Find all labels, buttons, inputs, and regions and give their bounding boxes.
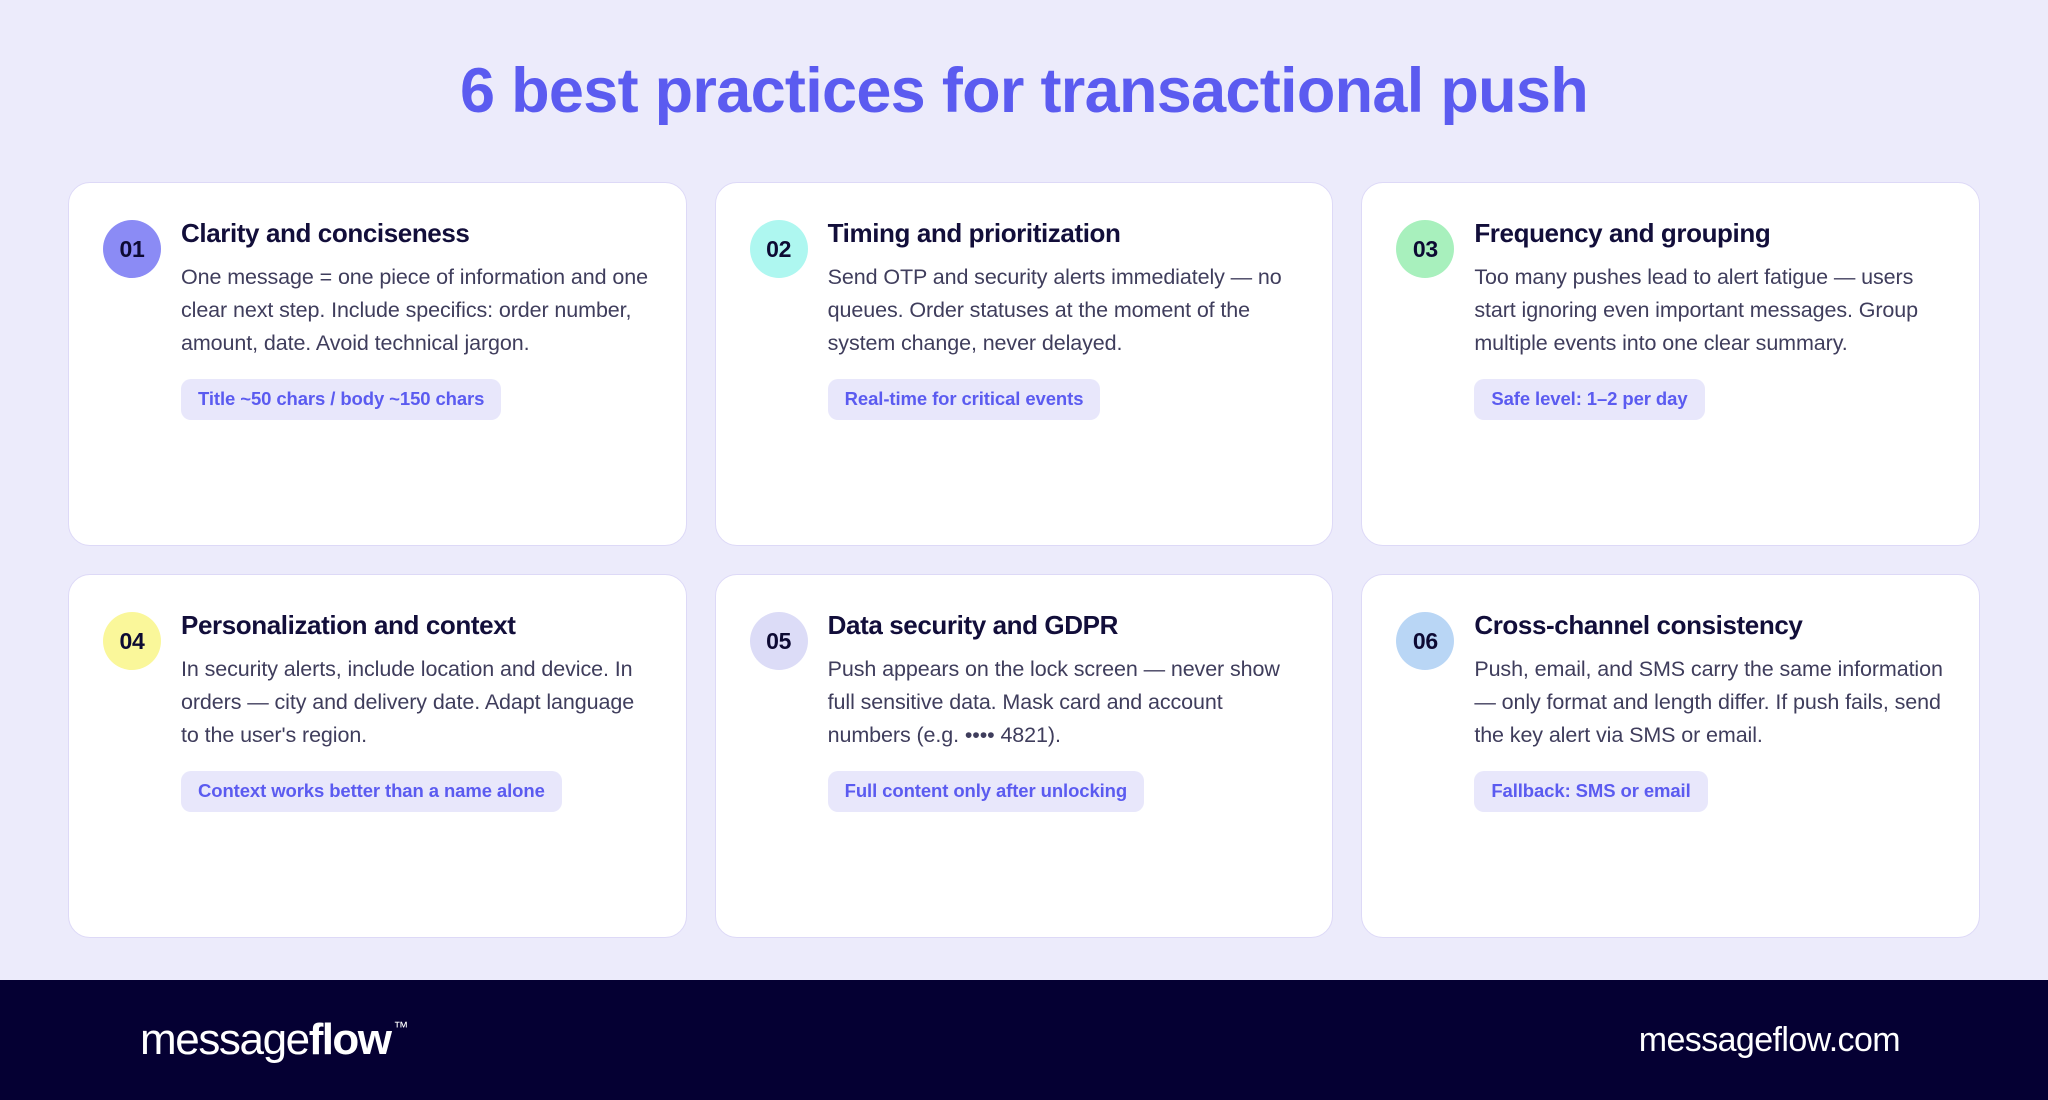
card-number-badge: 03 [1396,220,1454,278]
infographic-page: 6 best practices for transactional push … [0,0,2048,1100]
card-content: Data security and GDPRPush appears on th… [828,609,1299,812]
page-title: 6 best practices for transactional push [460,58,1588,124]
card-title: Timing and prioritization [828,218,1299,249]
trademark-icon: ™ [393,1020,408,1035]
practices-grid: 01Clarity and concisenessOne message = o… [0,182,2048,938]
card-content: Timing and prioritizationSend OTP and se… [828,217,1299,420]
card-tip-pill: Fallback: SMS or email [1474,771,1707,812]
card-number-badge: 01 [103,220,161,278]
card-number-badge: 06 [1396,612,1454,670]
practice-card: 02Timing and prioritizationSend OTP and … [715,182,1334,546]
card-description: In security alerts, include location and… [181,653,652,751]
card-tip-pill: Safe level: 1–2 per day [1474,379,1704,420]
footer-website-url[interactable]: messageflow.com [1639,1021,1900,1060]
card-content: Personalization and contextIn security a… [181,609,652,812]
card-title: Cross-channel consistency [1474,610,1945,641]
practice-card: 01Clarity and concisenessOne message = o… [68,182,687,546]
practice-card: 06Cross-channel consistencyPush, email, … [1361,574,1980,938]
card-title: Data security and GDPR [828,610,1299,641]
card-number-badge: 04 [103,612,161,670]
card-description: One message = one piece of information a… [181,261,652,359]
practice-card: 04Personalization and contextIn security… [68,574,687,938]
card-tip-pill: Real-time for critical events [828,379,1101,420]
card-title: Clarity and conciseness [181,218,652,249]
page-title-container: 6 best practices for transactional push [0,0,2048,182]
card-content: Cross-channel consistencyPush, email, an… [1474,609,1945,812]
card-description: Send OTP and security alerts immediately… [828,261,1299,359]
card-tip-pill: Title ~50 chars / body ~150 chars [181,379,501,420]
card-description: Push appears on the lock screen — never … [828,653,1299,751]
logo-text-light: message [140,1018,309,1062]
card-title: Personalization and context [181,610,652,641]
card-description: Push, email, and SMS carry the same info… [1474,653,1945,751]
card-content: Clarity and concisenessOne message = one… [181,217,652,420]
logo-text-bold: flow [309,1018,391,1062]
footer-bar: messageflow™ messageflow.com [0,980,2048,1100]
card-number-badge: 02 [750,220,808,278]
card-description: Too many pushes lead to alert fatigue — … [1474,261,1945,359]
practice-card: 03Frequency and groupingToo many pushes … [1361,182,1980,546]
messageflow-logo[interactable]: messageflow™ [140,1018,408,1062]
card-tip-pill: Full content only after unlocking [828,771,1144,812]
card-tip-pill: Context works better than a name alone [181,771,562,812]
card-title: Frequency and grouping [1474,218,1945,249]
practice-card: 05Data security and GDPRPush appears on … [715,574,1334,938]
card-number-badge: 05 [750,612,808,670]
card-content: Frequency and groupingToo many pushes le… [1474,217,1945,420]
